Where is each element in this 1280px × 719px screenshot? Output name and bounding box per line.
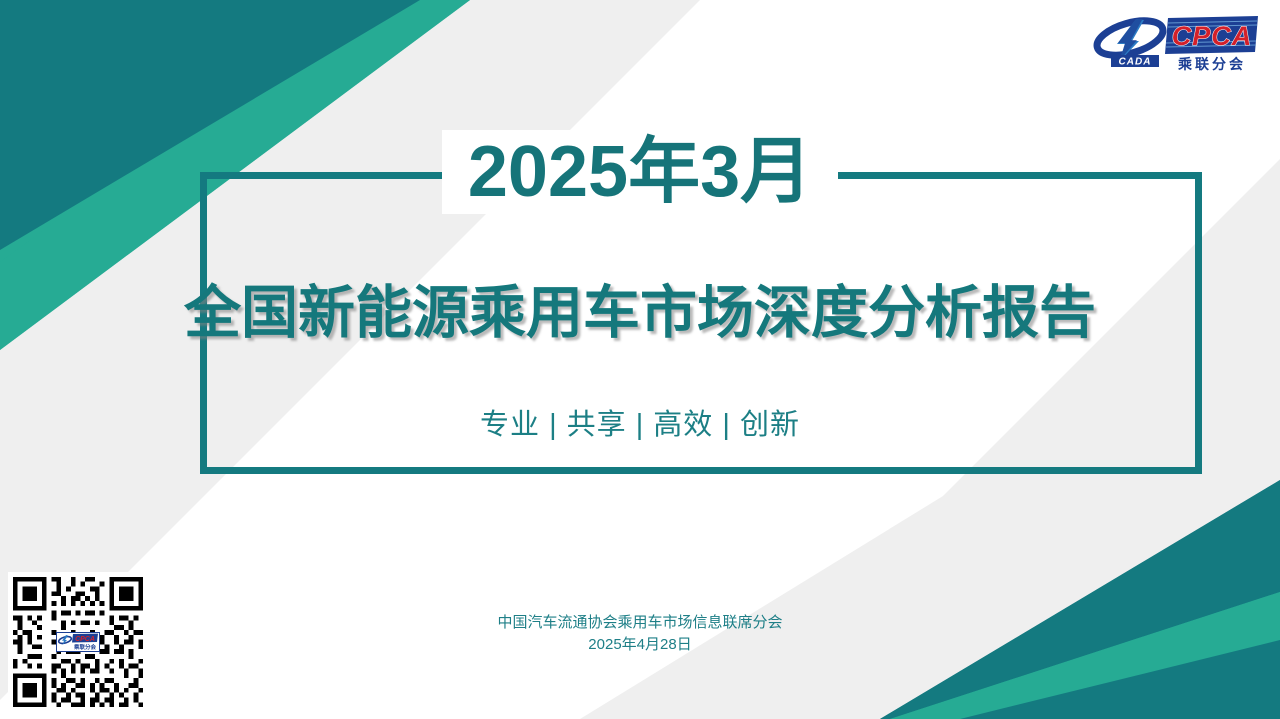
cpca-logo-svg: CADA CPCA 乘联分会 [1092, 14, 1258, 72]
headline-container: 2025年3月 [0, 130, 1280, 214]
qr-code[interactable]: CPCA 乘联分会 [8, 572, 148, 712]
title-slide: 2025年3月 全国新能源乘用车市场深度分析报告 专业 | 共享 | 高效 | … [0, 0, 1280, 719]
cpca-logo: CADA CPCA 乘联分会 [1092, 14, 1258, 72]
svg-text:乘联分会: 乘联分会 [73, 643, 97, 651]
cpca-logo-chinese: 乘联分会 [1177, 56, 1246, 72]
svg-text:CPCA: CPCA [1172, 21, 1253, 51]
footer-date: 2025年4月28日 [0, 634, 1280, 656]
cpca-wordmark: CPCA [1165, 16, 1258, 54]
tagline-container: 专业 | 共享 | 高效 | 创新 [0, 405, 1280, 445]
report-title: 全国新能源乘用车市场深度分析报告 [184, 277, 1096, 349]
cada-wordmark: CADA [1111, 55, 1159, 68]
cada-swoosh-icon [1093, 14, 1167, 62]
subheadline-container: 全国新能源乘用车市场深度分析报告 [0, 277, 1280, 349]
svg-text:CPCA: CPCA [75, 636, 95, 643]
qr-center-logo-svg: CPCA 乘联分会 [57, 633, 99, 651]
tagline: 专业 | 共享 | 高效 | 创新 [480, 405, 800, 445]
qr-center-logo: CPCA 乘联分会 [56, 632, 100, 652]
svg-text:CADA: CADA [1119, 57, 1152, 68]
footer: 中国汽车流通协会乘用车市场信息联席分会 2025年4月28日 [0, 612, 1280, 656]
page-title: 2025年3月 [442, 130, 838, 214]
footer-organization: 中国汽车流通协会乘用车市场信息联席分会 [0, 612, 1280, 634]
